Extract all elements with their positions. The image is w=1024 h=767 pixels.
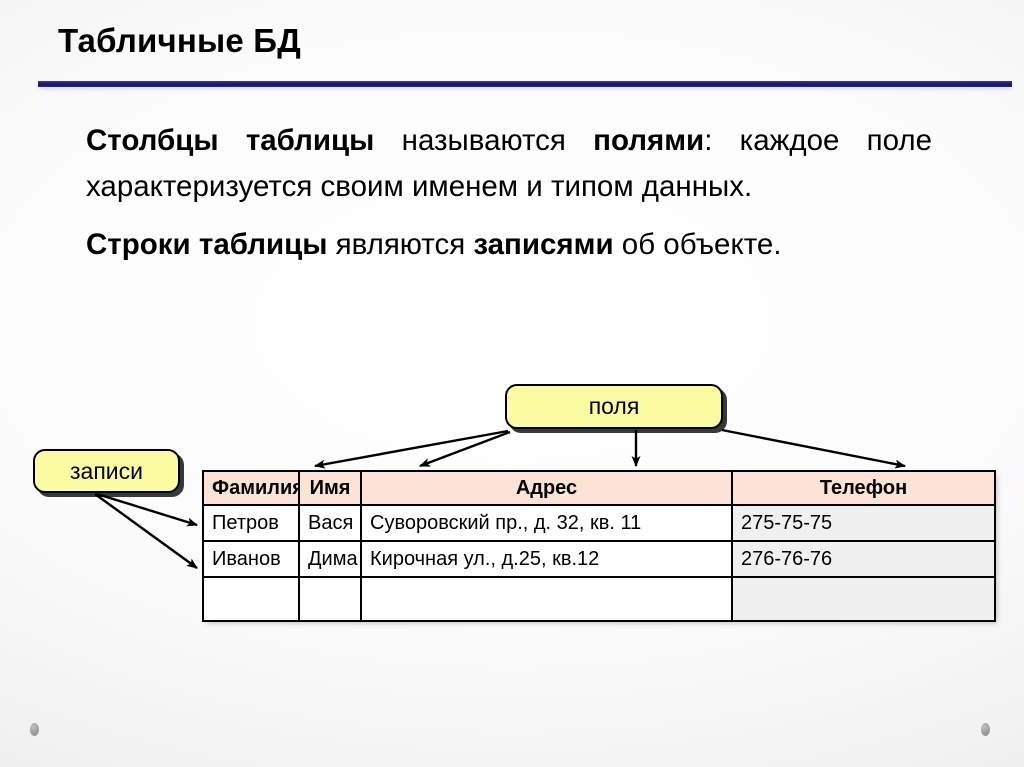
column-header-phone[interactable]: Телефон — [732, 471, 995, 505]
callout-fields[interactable]: поля — [505, 384, 723, 429]
text-run: называются — [402, 124, 594, 157]
table-row[interactable]: Иванов Дима Кирочная ул., д.25, кв.12 27… — [203, 541, 995, 577]
column-header-firstname[interactable]: Имя — [299, 471, 361, 505]
title-underline-rule — [38, 81, 1012, 87]
bullet-dot-icon-left — [30, 723, 39, 736]
cell-surname[interactable]: Петров — [203, 505, 299, 541]
cell-address[interactable]: Кирочная ул., д.25, кв.12 — [361, 541, 732, 577]
arrow-overlay — [0, 0, 1024, 767]
callout-records[interactable]: записи — [33, 449, 180, 493]
table-header-row: Фамилия Имя Адрес Телефон — [203, 471, 995, 505]
arrow-fields-to-name — [420, 432, 510, 466]
arrow-fields-to-phone — [722, 430, 905, 466]
paragraph-fields: Столбцы таблицы называются полями: каждо… — [86, 118, 932, 210]
callout-fields-label: поля — [589, 393, 640, 420]
arrow-records-to-row2 — [95, 494, 197, 568]
emphasised-run: Столбцы таблицы — [86, 124, 402, 157]
emphasised-run: Строки таблицы — [86, 228, 336, 261]
cell-address[interactable]: Суворовский пр., д. 32, кв. 11 — [361, 505, 732, 541]
emphasised-run: полями — [593, 124, 704, 157]
cell-firstname[interactable] — [299, 577, 361, 621]
table-row[interactable]: Петров Вася Суворовский пр., д. 32, кв. … — [203, 505, 995, 541]
text-run: об объекте. — [614, 228, 782, 261]
arrow-records-to-row1 — [97, 494, 197, 525]
records-table: Фамилия Имя Адрес Телефон Петров Вася Су… — [202, 470, 996, 622]
cell-firstname[interactable]: Вася — [299, 505, 361, 541]
cell-firstname[interactable]: Дима — [299, 541, 361, 577]
page-title: Табличные БД — [58, 22, 301, 60]
body-text-block: Столбцы таблицы называются полями: каждо… — [86, 118, 932, 268]
column-header-address[interactable]: Адрес — [361, 471, 732, 505]
text-run: являются — [336, 228, 474, 261]
cell-surname[interactable]: Иванов — [203, 541, 299, 577]
slide-canvas: Табличные БД Столбцы таблицы называются … — [0, 0, 1024, 767]
cell-phone[interactable]: 276-76-76 — [732, 541, 995, 577]
column-header-surname[interactable]: Фамилия — [203, 471, 299, 505]
emphasised-run: записями — [473, 228, 613, 261]
callout-records-label: записи — [70, 458, 143, 485]
table-row-empty[interactable] — [203, 577, 995, 621]
bullet-dot-icon-right — [981, 723, 990, 736]
paragraph-records: Строки таблицы являются записями об объе… — [86, 222, 932, 268]
cell-phone[interactable]: 275-75-75 — [732, 505, 995, 541]
cell-phone[interactable] — [732, 577, 995, 621]
cell-address[interactable] — [361, 577, 732, 621]
cell-surname[interactable] — [203, 577, 299, 621]
arrow-fields-to-surname — [315, 431, 508, 466]
